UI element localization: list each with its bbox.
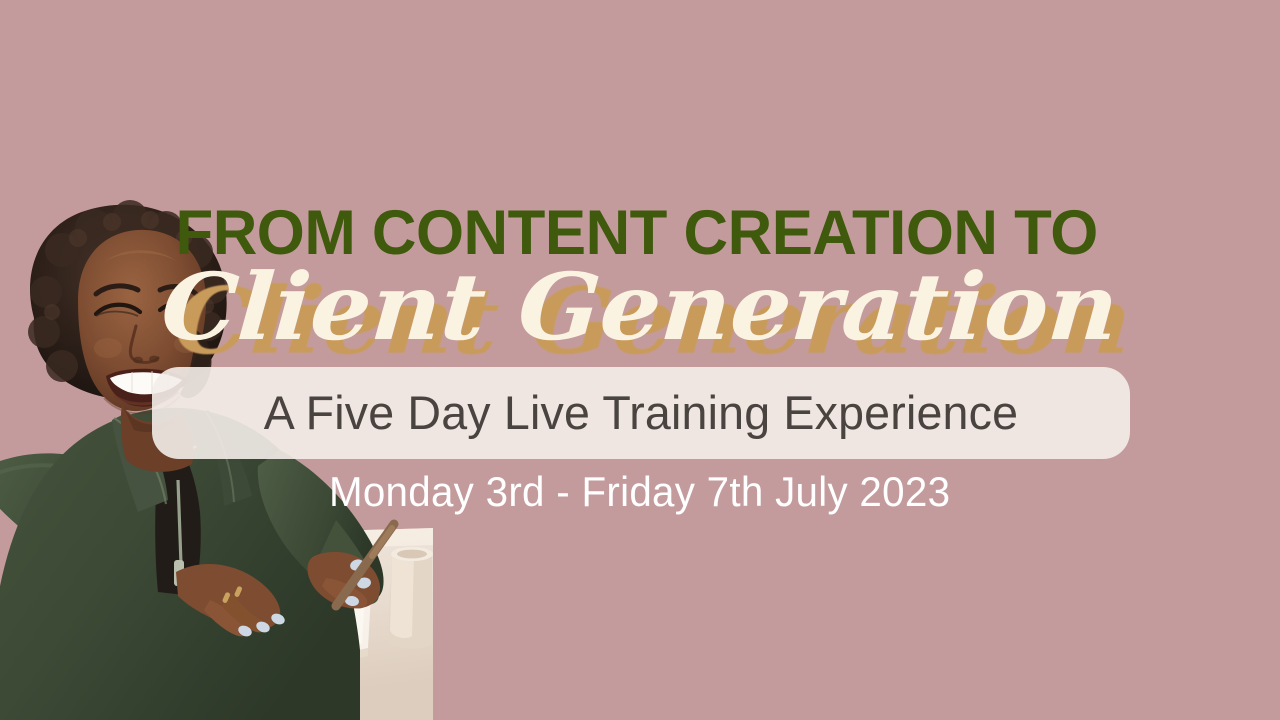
headline-text: FROM CONTENT CREATION TO bbox=[176, 198, 1104, 268]
promo-banner: FROM CONTENT CREATION TO Client Generati… bbox=[0, 0, 1280, 720]
subtitle-pill: A Five Day Live Training Experience bbox=[152, 367, 1130, 459]
headline: FROM CONTENT CREATION TO bbox=[0, 198, 1280, 268]
dateline: Monday 3rd - Friday 7th July 2023 bbox=[0, 466, 1280, 518]
dateline-text: Monday 3rd - Friday 7th July 2023 bbox=[329, 466, 950, 518]
presenter-photo-illustration bbox=[0, 0, 433, 720]
subtitle-text: A Five Day Live Training Experience bbox=[264, 385, 1018, 441]
cup bbox=[388, 547, 433, 649]
presenter-photo bbox=[0, 0, 433, 720]
